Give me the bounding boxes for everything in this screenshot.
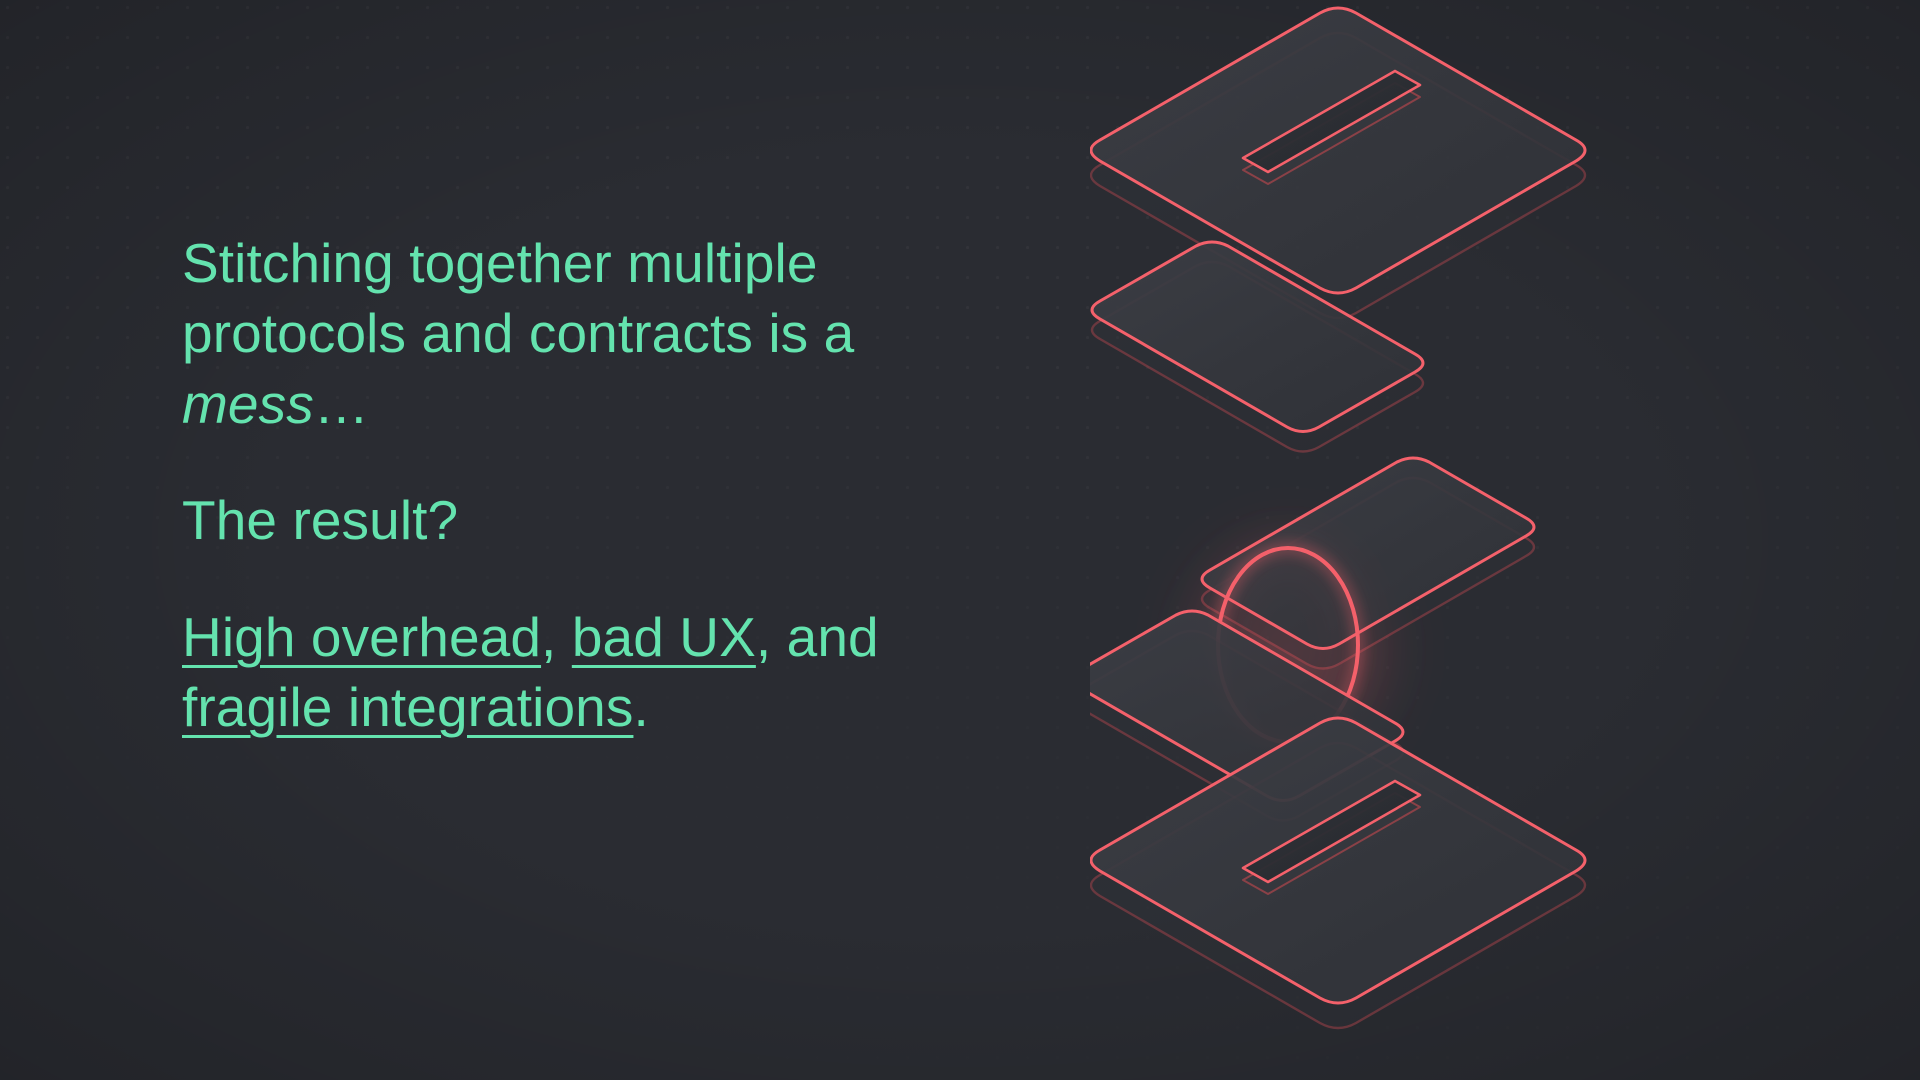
consequence-period: . <box>633 676 648 738</box>
plate-top-surface <box>1091 8 1585 293</box>
consequence-separator-1: , <box>541 606 572 668</box>
question-text: The result? <box>182 489 458 551</box>
consequence-separator-2: , and <box>756 606 894 668</box>
isometric-layer-stack-illustration <box>1090 0 1850 1080</box>
problem-statement-emphasis: mess <box>182 373 314 435</box>
problem-statement-ellipsis: … <box>314 373 369 435</box>
slide-root: Stitching together multiple protocols an… <box>0 0 1920 1080</box>
paragraph-question: The result? <box>182 485 902 555</box>
isometric-stack-svg <box>1090 0 1850 1080</box>
consequence-fragile-integrations: fragile integrations <box>182 676 633 738</box>
plate-bottom <box>1091 718 1585 1028</box>
problem-statement-part-1: Stitching together multiple protocols an… <box>182 232 870 364</box>
plate-bottom-surface <box>1091 718 1585 1003</box>
consequence-high-overhead: High overhead <box>182 606 541 668</box>
paragraph-consequences: High overhead, bad UX, and fragile integ… <box>182 602 902 743</box>
paragraph-problem-statement: Stitching together multiple protocols an… <box>182 228 902 439</box>
consequence-bad-ux: bad UX <box>572 606 756 668</box>
text-column: Stitching together multiple protocols an… <box>182 228 902 742</box>
